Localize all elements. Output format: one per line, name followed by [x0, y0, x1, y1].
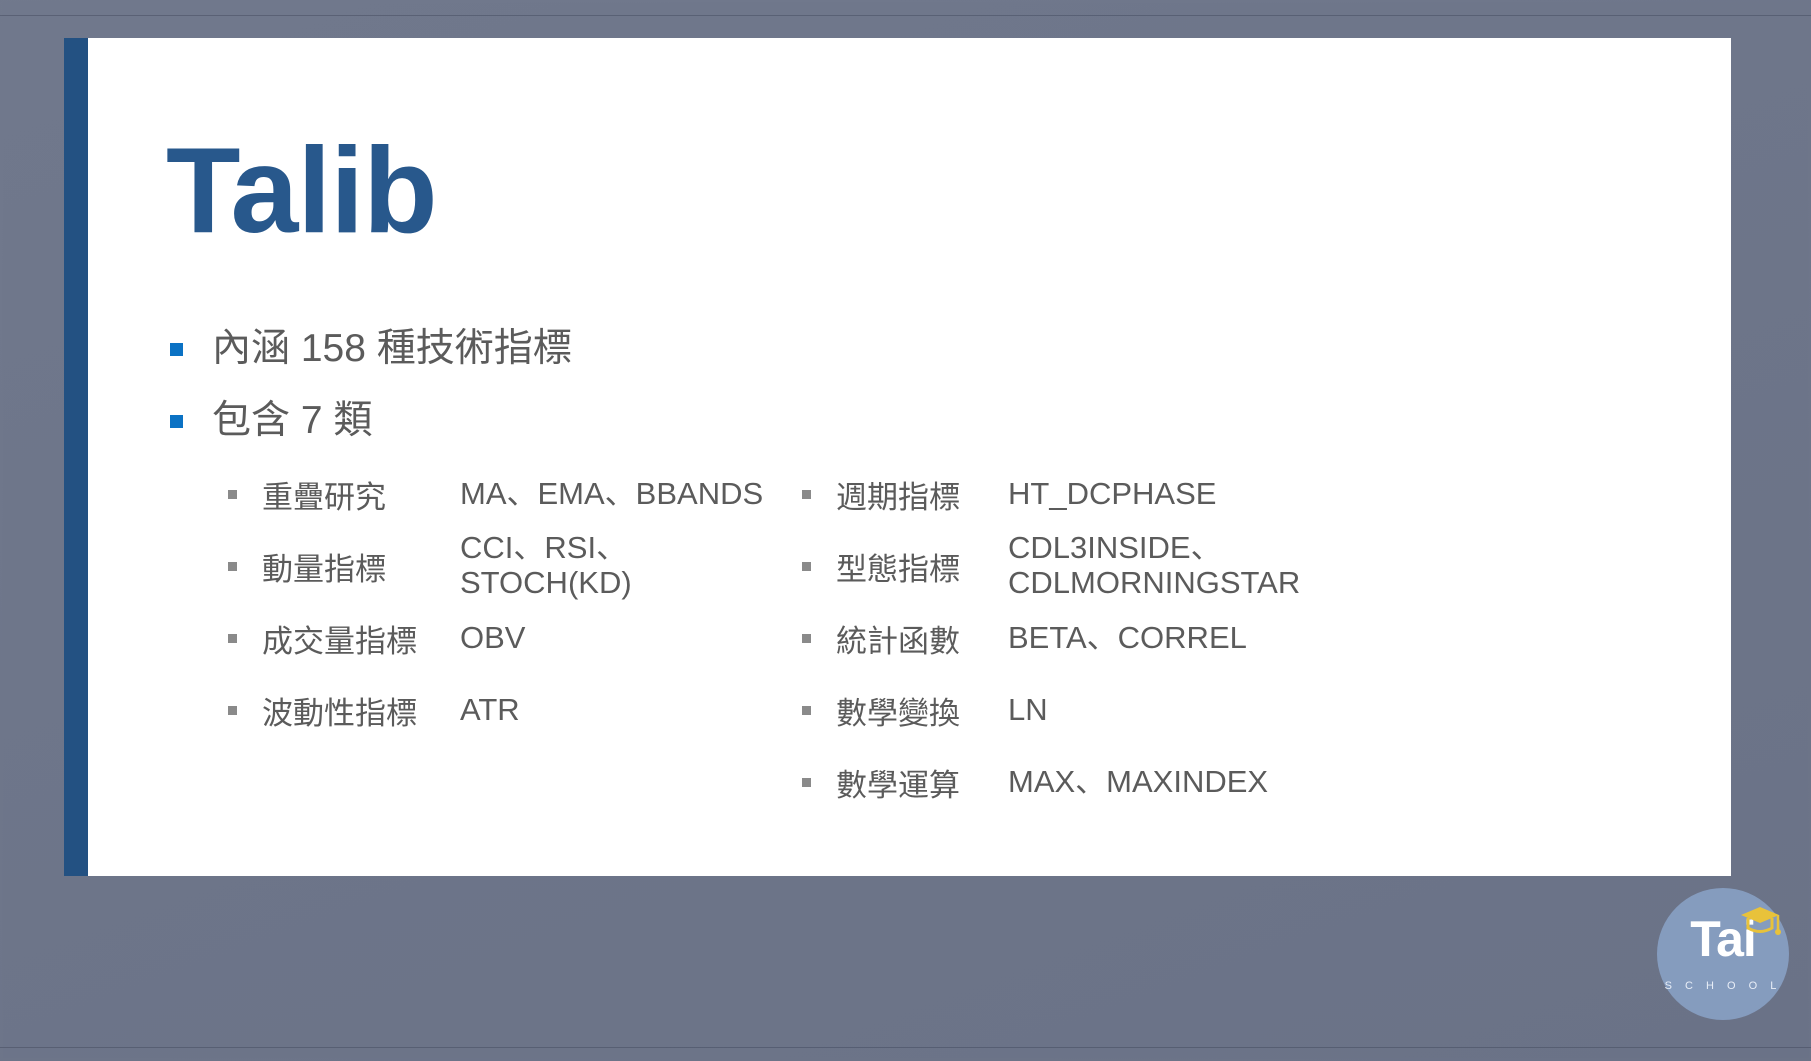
- square-bullet-icon: [802, 634, 811, 643]
- category-name: 數學變換: [836, 688, 1008, 733]
- category-name: 動量指標: [262, 544, 460, 589]
- category-column-left: 重疊研究 MA、EMA、BBANDS 動量指標 CCI、RSI、STOCH(KD…: [228, 458, 798, 746]
- bullet-item-level1: 內涵 158 種技術指標: [170, 325, 572, 374]
- category-row: 數學變換 LN: [802, 674, 1442, 746]
- square-bullet-icon: [802, 562, 811, 571]
- category-name: 週期指標: [836, 472, 1008, 517]
- slide-card: Talib 內涵 158 種技術指標 包含 7 類 重疊研究 MA、EMA、BB…: [64, 38, 1731, 876]
- square-bullet-icon: [228, 706, 237, 715]
- category-row: 動量指標 CCI、RSI、STOCH(KD): [228, 530, 798, 602]
- category-row: 重疊研究 MA、EMA、BBANDS: [228, 458, 798, 530]
- square-bullet-icon: [802, 706, 811, 715]
- category-row: 型態指標 CDL3INSIDE、 CDLMORNINGSTAR: [802, 530, 1442, 602]
- bullet-level1-label: 包含 7 類: [212, 397, 372, 446]
- category-functions: CDL3INSIDE、 CDLMORNINGSTAR: [1008, 531, 1300, 600]
- logo-subtext: S C H O O L: [1657, 980, 1789, 992]
- category-functions: MAX、MAXINDEX: [1008, 765, 1268, 800]
- square-bullet-icon: [802, 490, 811, 499]
- background-hairline-bottom: [0, 1047, 1811, 1048]
- category-name: 統計函數: [836, 616, 1008, 661]
- square-bullet-icon: [228, 562, 237, 571]
- category-column-right: 週期指標 HT_DCPHASE 型態指標 CDL3INSIDE、 CDLMORN…: [802, 458, 1442, 818]
- category-name: 波動性指標: [262, 688, 460, 733]
- category-columns: 重疊研究 MA、EMA、BBANDS 動量指標 CCI、RSI、STOCH(KD…: [228, 458, 1708, 818]
- category-row: 週期指標 HT_DCPHASE: [802, 458, 1442, 530]
- bullet-item-level1: 包含 7 類: [170, 397, 372, 446]
- square-bullet-icon: [228, 490, 237, 499]
- category-row: 數學運算 MAX、MAXINDEX: [802, 746, 1442, 818]
- background-hairline-top: [0, 15, 1811, 16]
- tai-school-logo: Tai S C H O O L: [1657, 888, 1789, 1020]
- slide-accent-bar: [64, 38, 88, 876]
- category-functions: ATR: [460, 693, 520, 728]
- square-bullet-icon: [228, 634, 237, 643]
- bullet-level1-label: 內涵 158 種技術指標: [212, 325, 572, 374]
- graduation-cap-icon: [1739, 904, 1781, 938]
- category-row: 成交量指標 OBV: [228, 602, 798, 674]
- slide-stage: Talib 內涵 158 種技術指標 包含 7 類 重疊研究 MA、EMA、BB…: [0, 0, 1811, 1061]
- square-bullet-icon: [802, 778, 811, 787]
- category-name: 數學運算: [836, 760, 1008, 805]
- category-name: 重疊研究: [262, 472, 460, 517]
- slide-content: Talib 內涵 158 種技術指標 包含 7 類 重疊研究 MA、EMA、BB…: [88, 38, 1731, 876]
- page-title: Talib: [166, 126, 437, 254]
- category-functions: HT_DCPHASE: [1008, 477, 1216, 512]
- category-name: 型態指標: [836, 544, 1008, 589]
- square-bullet-icon: [170, 415, 183, 428]
- category-row: 波動性指標 ATR: [228, 674, 798, 746]
- category-functions: CCI、RSI、STOCH(KD): [460, 531, 798, 600]
- category-functions: BETA、CORREL: [1008, 621, 1247, 656]
- category-functions: OBV: [460, 621, 525, 656]
- square-bullet-icon: [170, 343, 183, 356]
- category-row: 統計函數 BETA、CORREL: [802, 602, 1442, 674]
- category-functions: MA、EMA、BBANDS: [460, 477, 763, 512]
- category-name: 成交量指標: [262, 616, 460, 661]
- category-functions: LN: [1008, 693, 1048, 728]
